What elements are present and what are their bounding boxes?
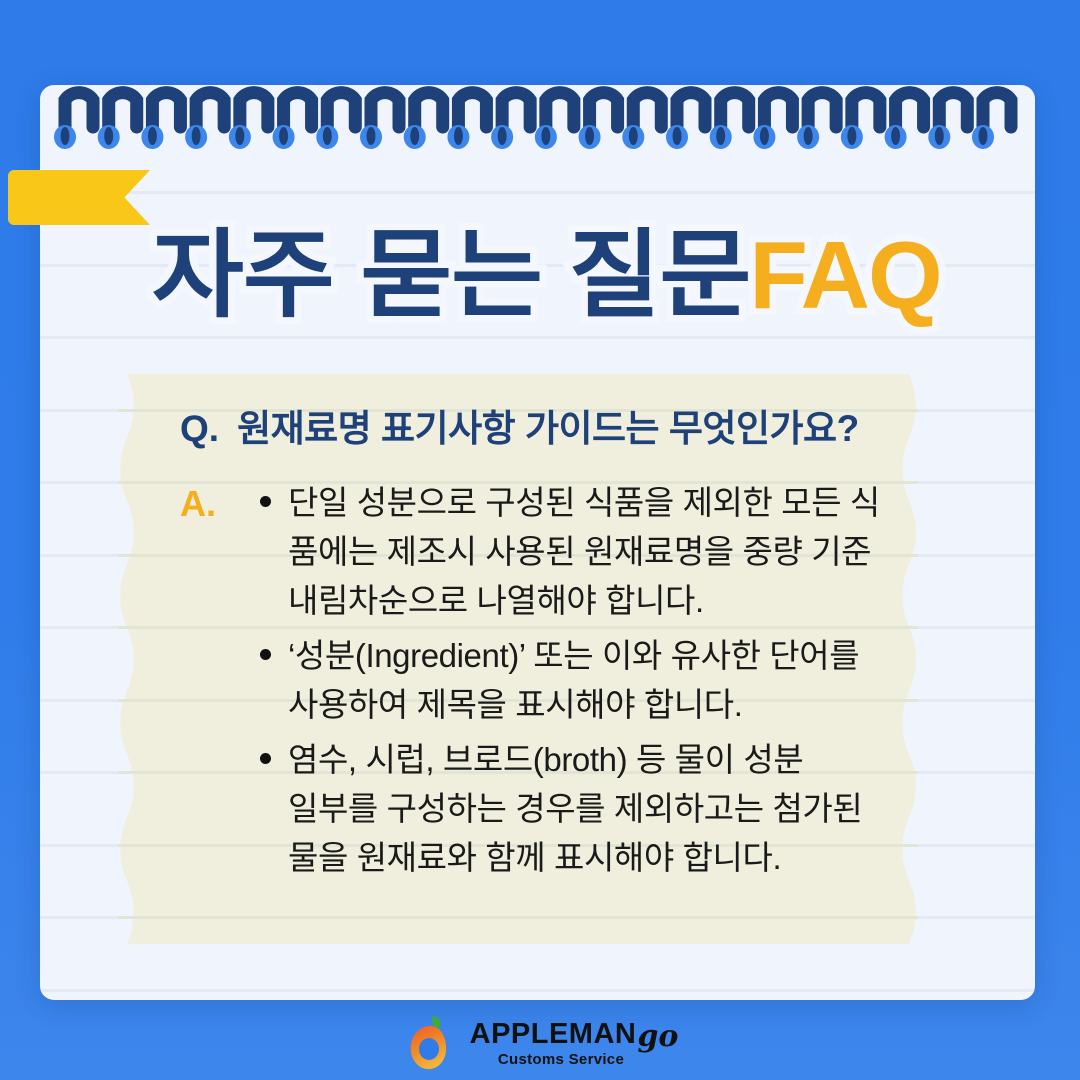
answer-bullet: ‘성분(Ingredient)’ 또는 이와 유사한 단어를 사용하여 제목을 … [254,631,912,729]
page-title: 자주 묻는 질문 FAQ [152,228,941,324]
mango-logo-icon [402,1014,458,1072]
answer-marker: A. [180,486,216,522]
page-rule-line [40,989,1035,992]
bullet-text: 단일 성분으로 구성된 식품을 제외한 모든 식 품에는 제조시 사용된 원재료… [288,484,880,619]
answer-bullet-list: 단일 성분으로 구성된 식품을 제외한 모든 식 품에는 제조시 사용된 원재료… [254,478,912,888]
page-rule-line [40,191,1035,194]
bullet-dot-icon [260,649,271,660]
brand-logo-text: APPLEMAN go Customs Service [470,1019,679,1067]
title-faq: FAQ [749,228,940,324]
bullet-dot-icon [260,753,271,764]
bullet-dot-icon [260,496,271,507]
faq-question-row: Q. 원재료명 표기사항 가이드는 무엇인가요? [180,410,908,447]
title-korean: 자주 묻는 질문 [152,228,750,324]
question-text: 원재료명 표기사항 가이드는 무엇인가요? [237,410,859,447]
brand-suffix: go [637,1022,678,1052]
bookmark-ribbon [0,170,150,225]
answer-bullet: 단일 성분으로 구성된 식품을 제외한 모든 식 품에는 제조시 사용된 원재료… [254,478,912,625]
brand-tagline: Customs Service [498,1052,624,1067]
faq-card-stage: 자주 묻는 질문 FAQ Q. 원재료명 표기사항 가이드는 무엇인가요? A.… [0,0,1080,1080]
ribbon-flag [8,170,150,225]
faq-panel: Q. 원재료명 표기사항 가이드는 무엇인가요? A. 단일 성분으로 구성된 … [118,374,918,944]
bullet-text: 염수, 시럽, 브로드(broth) 등 물이 성분 일부를 구성하는 경우를 … [288,741,862,876]
question-marker: Q. [180,410,219,447]
answer-bullet: 염수, 시럽, 브로드(broth) 등 물이 성분 일부를 구성하는 경우를 … [254,735,912,882]
bullet-text: ‘성분(Ingredient)’ 또는 이와 유사한 단어를 사용하여 제목을 … [288,637,859,723]
faq-content: Q. 원재료명 표기사항 가이드는 무엇인가요? A. 단일 성분으로 구성된 … [118,374,918,944]
page-rule-line [40,336,1035,339]
brand-name-row: APPLEMAN go [470,1019,679,1049]
brand-name: APPLEMAN [470,1020,637,1049]
brand-logo: APPLEMAN go Customs Service [0,1012,1080,1074]
